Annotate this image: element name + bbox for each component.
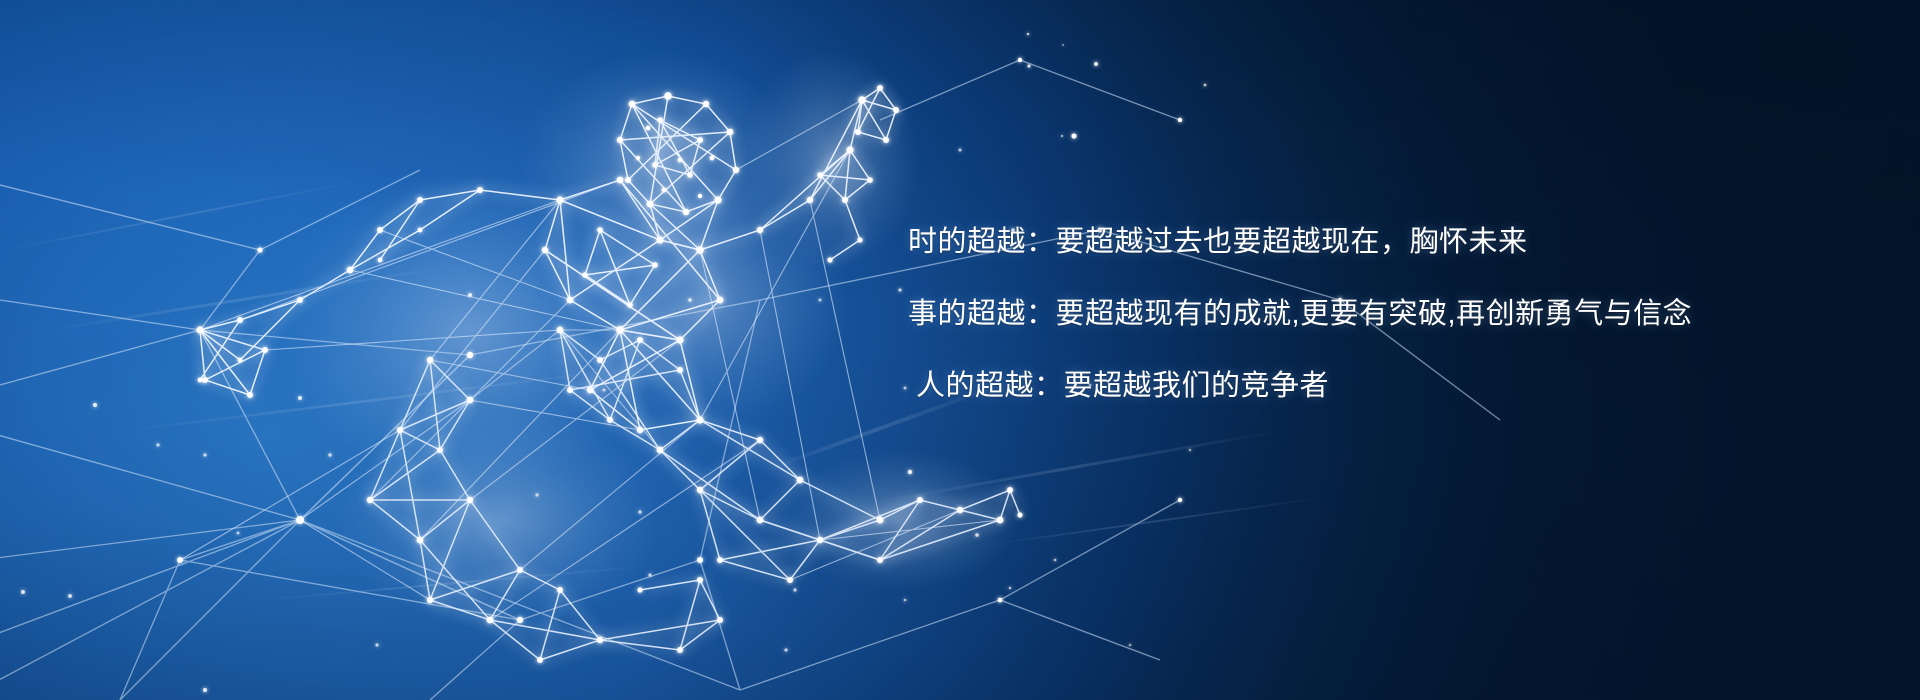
tagline-line-time: 时的超越：要超越过去也要超越现在，胸怀未来 bbox=[908, 228, 1808, 257]
tagline-line-matter: 事的超越：要超越现有的成就,更要有突破,再创新勇气与信念 bbox=[908, 300, 1808, 329]
tagline-block: 时的超越：要超越过去也要超越现在，胸怀未来 事的超越：要超越现有的成就,更要有突… bbox=[908, 228, 1808, 401]
hero-banner: 时的超越：要超越过去也要超越现在，胸怀未来 事的超越：要超越现有的成就,更要有突… bbox=[0, 0, 1920, 700]
tagline-line-people: 人的超越：要超越我们的竞争者 bbox=[916, 372, 1808, 401]
